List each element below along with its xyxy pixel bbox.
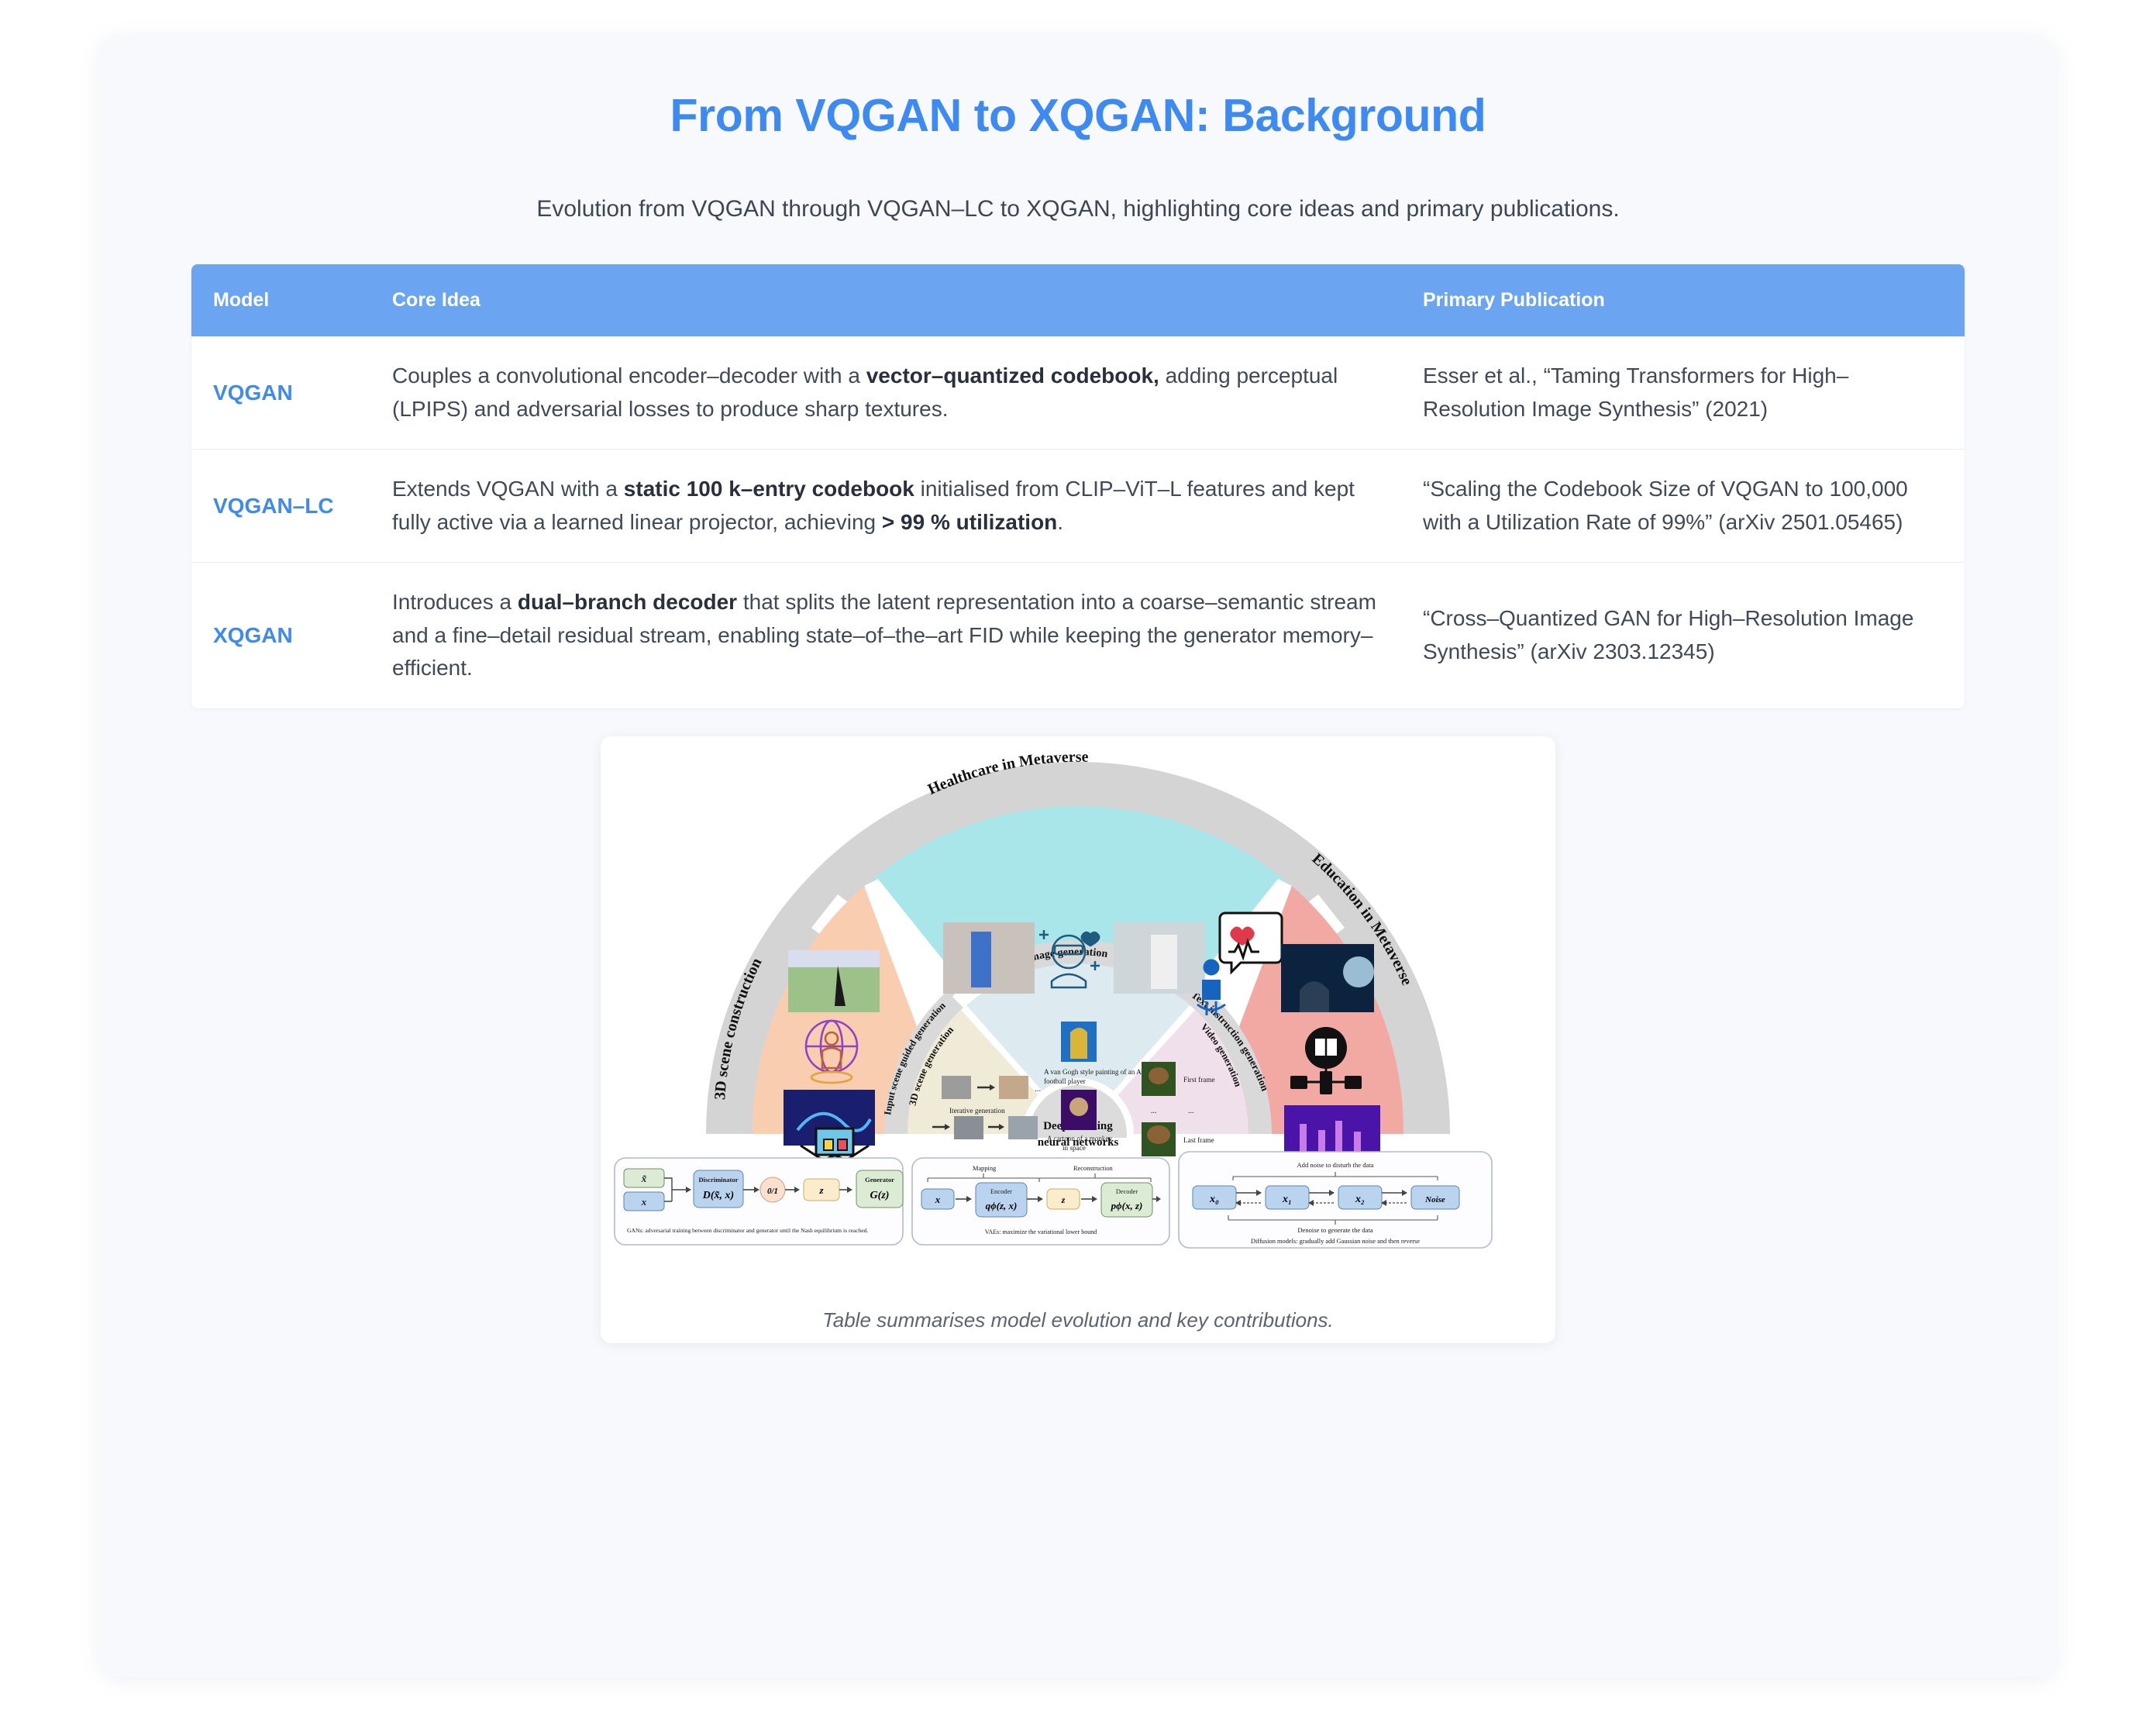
vae-panel-caption: VAEs: maximize the variational lower bou… bbox=[985, 1228, 1097, 1235]
thumb-monkey-space-figure bbox=[1069, 1097, 1088, 1116]
figure-caption: Table summarises model evolution and key… bbox=[608, 1308, 1548, 1332]
thumb-iter-b2 bbox=[1008, 1116, 1038, 1139]
gan-node-generator-title: Generator bbox=[865, 1176, 894, 1184]
caption-monkey-line1: A cartoon of a monkey bbox=[1047, 1135, 1113, 1142]
gan-node-z-label: z bbox=[818, 1184, 824, 1196]
diffusion-panel: Add noise to disturb the data x₀ x₁ x₂ N… bbox=[1179, 1152, 1492, 1248]
table-row: VQGAN–LC Extends VQGAN with a static 100… bbox=[191, 450, 1965, 563]
thumb-last-frame-bear bbox=[1147, 1125, 1170, 1144]
table-row: XQGAN Introduces a dual–branch decoder t… bbox=[191, 563, 1965, 708]
slide-card: From VQGAN to XQGAN: Background Evolutio… bbox=[99, 35, 2057, 1677]
caption-last-frame: Last frame bbox=[1183, 1136, 1214, 1144]
diffusion-label-add-noise: Add noise to disturb the data bbox=[1297, 1161, 1373, 1169]
vae-node-encoder-formula: qϕ(z, x) bbox=[986, 1200, 1018, 1211]
gan-node-discriminator-formula: D(x̃, x) bbox=[702, 1190, 734, 1201]
vae-node-decoder-formula: pϕ(x, z) bbox=[1111, 1200, 1143, 1211]
figure-card: 3D scene construction Healthcare in Meta… bbox=[601, 736, 1555, 1343]
column-header-primary-publication: Primary Publication bbox=[1404, 264, 1965, 336]
gan-generator-node-group: GeneratorG(z) bbox=[856, 1170, 903, 1208]
gan-node-x-label: x bbox=[641, 1196, 647, 1208]
cell-core-idea: Extends VQGAN with a static 100 k–entry … bbox=[374, 450, 1404, 563]
cell-core-idea: Couples a convolutional encoder–decoder … bbox=[374, 336, 1404, 450]
diffusion-node-x2-label: x₂ bbox=[1355, 1194, 1365, 1205]
cell-publication: Esser et al., “Taming Transformers for H… bbox=[1404, 336, 1965, 450]
diffusion-label-denoise: Denoise to generate the data bbox=[1297, 1226, 1373, 1234]
cell-publication: “Cross–Quantized GAN for High–Resolution… bbox=[1404, 563, 1965, 708]
slide-page: From VQGAN to XQGAN: Background Evolutio… bbox=[0, 0, 2156, 1716]
gan-node-generator-formula: G(z) bbox=[870, 1190, 890, 1201]
vae-node-z-label: z bbox=[1061, 1194, 1066, 1205]
cell-model: XQGAN bbox=[191, 563, 374, 708]
column-header-model: Model bbox=[191, 264, 374, 336]
caption-vangogh-line2: football player bbox=[1044, 1077, 1086, 1085]
diffusion-node-noise-label: Noise bbox=[1424, 1195, 1445, 1204]
table-body: VQGAN Couples a convolutional encoder–de… bbox=[191, 336, 1965, 708]
thumb-iter-a2 bbox=[999, 1076, 1028, 1099]
photo-lab-scientist-figure bbox=[1151, 935, 1177, 989]
column-header-core-idea: Core Idea bbox=[374, 264, 1404, 336]
page-title: From VQGAN to XQGAN: Background bbox=[670, 89, 1486, 142]
thumb-iter-b1 bbox=[954, 1116, 983, 1139]
table-header-row: Model Core Idea Primary Publication bbox=[191, 264, 1965, 336]
table-row: VQGAN Couples a convolutional encoder–de… bbox=[191, 336, 1965, 450]
gan-node-xtilde-in-label: x̃ bbox=[641, 1173, 647, 1184]
ecg-speech-bubble-icon bbox=[1220, 913, 1282, 972]
gan-node-binary-label: 0/1 bbox=[767, 1187, 778, 1196]
diffusion-node-x1-label: x₁ bbox=[1282, 1194, 1292, 1205]
ellipsis-video-2: ... bbox=[1188, 1107, 1194, 1115]
diffusion-panel-caption: Diffusion models: gradually add Gaussian… bbox=[1251, 1238, 1420, 1245]
cell-core-idea: Introduces a dual–branch decoder that sp… bbox=[374, 563, 1404, 708]
model-comparison-table: Model Core Idea Primary Publication VQGA… bbox=[191, 264, 1965, 708]
thumb-first-frame-bear bbox=[1149, 1067, 1169, 1084]
gan-node-discriminator-title: Discriminator bbox=[699, 1176, 739, 1184]
caption-monkey-line2: in space bbox=[1063, 1144, 1086, 1152]
photo-vr-landscape-sky bbox=[788, 950, 880, 967]
ellipsis-iter-a: ... bbox=[1035, 1084, 1042, 1094]
vae-node-encoder-title: Encoder bbox=[990, 1188, 1012, 1195]
cell-model: VQGAN–LC bbox=[191, 450, 374, 563]
thumb-football-player-figure bbox=[1070, 1028, 1087, 1059]
ellipsis-video-1: ... bbox=[1151, 1107, 1157, 1115]
cell-publication: “Scaling the Codebook Size of VQGAN to 1… bbox=[1404, 450, 1965, 563]
vae-panel: Mapping Reconstruction x Encoder qϕ(z, x… bbox=[912, 1158, 1169, 1245]
gan-panel-caption: GANs: adversarial training between discr… bbox=[627, 1227, 869, 1234]
vae-node-x-label: x bbox=[935, 1194, 941, 1205]
vae-label-mapping: Mapping bbox=[973, 1165, 997, 1172]
slide-subtitle: Evolution from VQGAN through VQGAN–LC to… bbox=[536, 196, 1619, 222]
caption-iterative-generation: Iterative generation bbox=[949, 1107, 1005, 1115]
cell-model: VQGAN bbox=[191, 336, 374, 450]
vae-label-reconstruction: Reconstruction bbox=[1073, 1165, 1114, 1172]
diffusion-node-x0-label: x₀ bbox=[1209, 1194, 1219, 1205]
metaverse-generative-ai-diagram: 3D scene construction Healthcare in Meta… bbox=[608, 743, 1548, 1277]
caption-first-frame: First frame bbox=[1183, 1076, 1215, 1084]
photo-vr-nurse-figure bbox=[971, 932, 991, 987]
vae-node-decoder-title: Decoder bbox=[1116, 1188, 1138, 1195]
photo-student-vr-glow bbox=[1343, 956, 1374, 987]
thumb-iter-a1 bbox=[942, 1076, 971, 1099]
